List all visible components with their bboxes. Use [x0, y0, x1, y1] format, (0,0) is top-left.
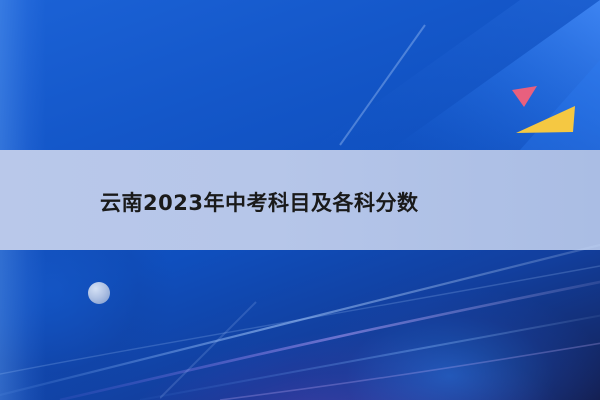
yellow-triangle-large-icon: [516, 106, 576, 134]
banner-image: 云南2023年中考科目及各科分数: [0, 0, 600, 400]
pink-triangle-icon: [512, 86, 538, 108]
light-streak-upper: [330, 20, 470, 150]
light-streak-lower: [160, 300, 280, 400]
bottom-light-curves: [0, 200, 600, 400]
